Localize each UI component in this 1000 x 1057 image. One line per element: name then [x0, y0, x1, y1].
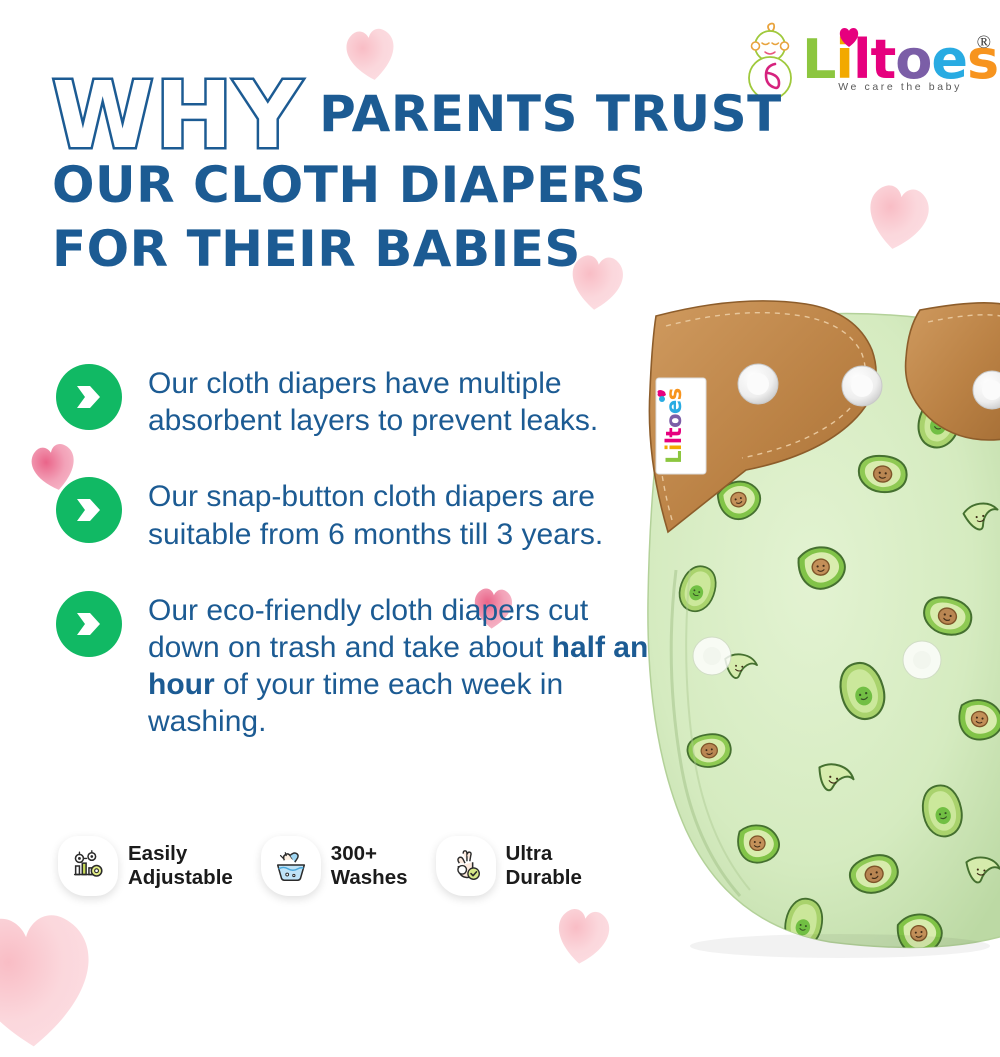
chevron-right-icon — [56, 364, 122, 430]
registered-mark: ® — [977, 32, 991, 54]
logo-heart-icon — [838, 28, 860, 48]
headline-line-2: OUR CLOTH DIAPERS — [52, 153, 702, 217]
benefit-list: Our cloth diapers have multiple absorben… — [56, 360, 656, 775]
benefit-item-2: Our snap-button cloth diapers are suitab… — [56, 473, 656, 552]
svg-text:Liltoes: Liltoes — [662, 388, 686, 464]
chevron-right-icon — [56, 477, 122, 543]
headline-accent-word: WHY — [52, 78, 303, 153]
headline-line-1: PARENTS TRUST — [319, 89, 782, 153]
benefit-text-1: Our cloth diapers have multiple absorben… — [148, 360, 656, 439]
benefit-text-3: Our eco-friendly cloth diapers cut down … — [148, 587, 656, 741]
chevron-right-icon — [56, 591, 122, 657]
brand-letter-L: L — [802, 34, 835, 85]
hand-wash-icon — [261, 836, 321, 896]
feature-badge-2: 300+ Washes — [261, 836, 408, 896]
feature-badge-label-1: Easily Adjustable — [128, 842, 233, 890]
brand-wordmark: Liltoes — [802, 34, 998, 85]
feature-badge-3: Ultra Durable — [436, 836, 582, 896]
benefit-emphasis: half an hour — [148, 631, 648, 701]
benefit-item-1: Our cloth diapers have multiple absorben… — [56, 360, 656, 439]
product-image-avocado-cloth-diaper: Liltoes — [590, 270, 1000, 960]
brand-letter-e: e — [931, 34, 967, 85]
feature-badge-list: Easily Adjustable300+ WashesUltra Durabl… — [58, 836, 610, 896]
benefit-text-2: Our snap-button cloth diapers are suitab… — [148, 473, 656, 552]
heart-decor-mid-right — [856, 176, 939, 257]
product-brand-label: Liltoes — [656, 378, 706, 474]
ok-hand-check-icon — [436, 836, 496, 896]
page-headline: WHY PARENTS TRUST OUR CLOTH DIAPERS FOR … — [52, 78, 702, 281]
gears-icon — [58, 836, 118, 896]
feature-badge-label-3: Ultra Durable — [506, 842, 582, 890]
feature-badge-1: Easily Adjustable — [58, 836, 233, 896]
heart-decor-corner — [0, 901, 109, 1057]
heart-decor-top — [338, 22, 403, 86]
feature-badge-label-2: 300+ Washes — [331, 842, 408, 890]
brand-letter-o: o — [895, 34, 931, 85]
brand-letter-t: t — [870, 34, 895, 85]
benefit-item-3: Our eco-friendly cloth diapers cut down … — [56, 587, 656, 741]
